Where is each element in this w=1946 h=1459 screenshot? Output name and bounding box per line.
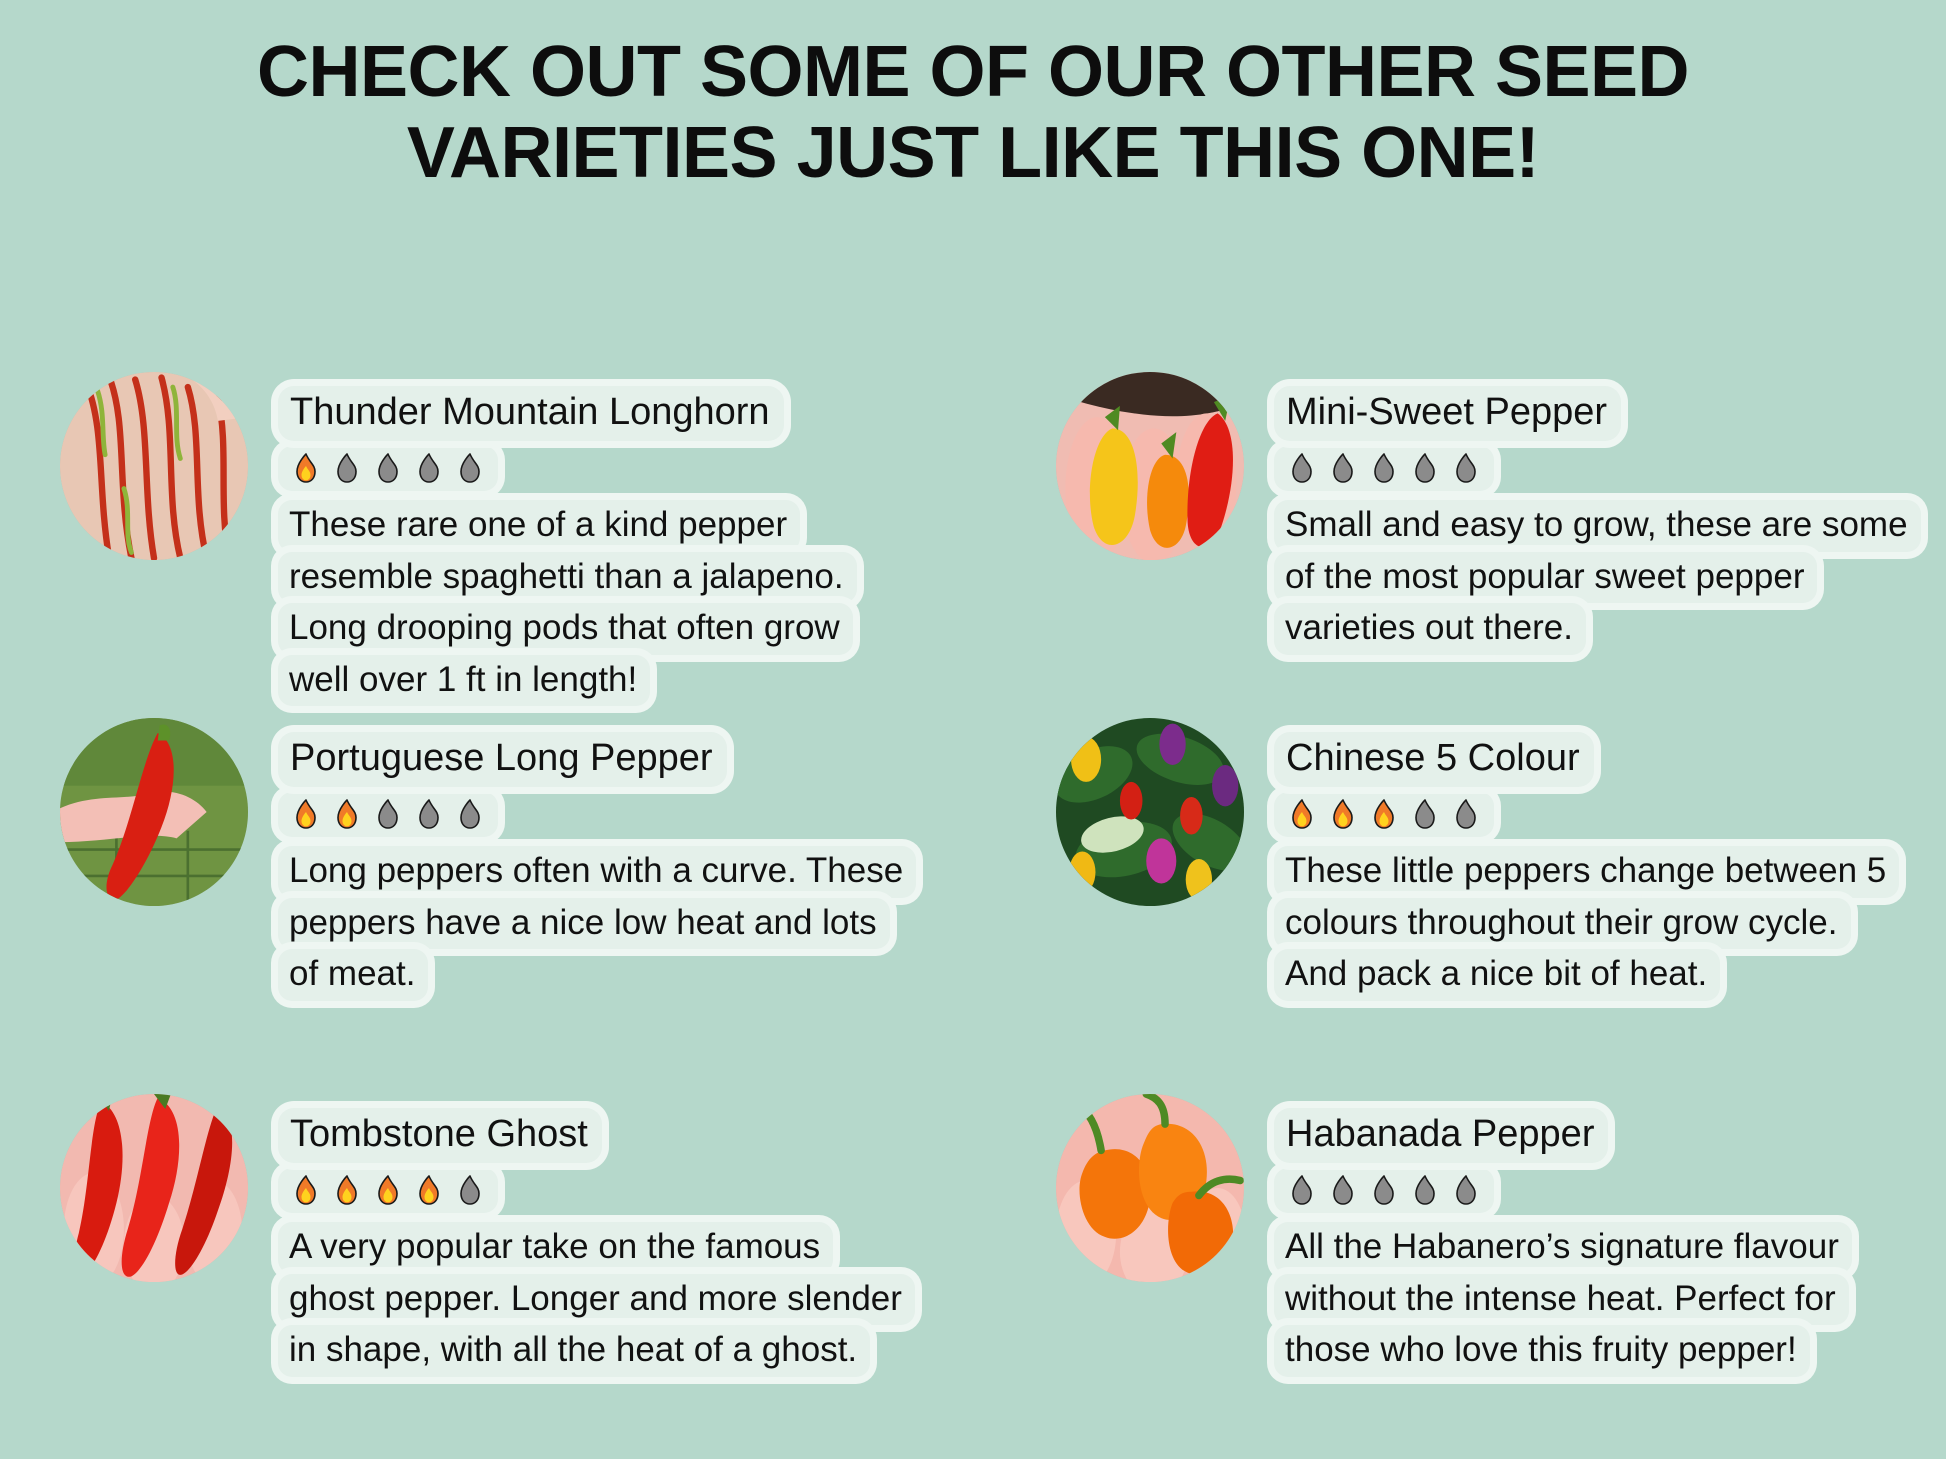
variety-description-line: resemble spaghetti than a jalapeno.	[278, 552, 857, 604]
flame-hot-icon	[409, 1171, 449, 1211]
variety-body: Habanada Pepper All the Habanero’s signa…	[1274, 1108, 1946, 1377]
variety-body: Tombstone Ghost A very popular take on t…	[278, 1108, 1008, 1377]
variety-description-line: A very popular take on the famous	[278, 1222, 833, 1274]
variety-description-line: peppers have a nice low heat and lots	[278, 898, 890, 950]
flame-hot-icon	[286, 449, 326, 489]
variety-name[interactable]: Mini-Sweet Pepper	[1274, 386, 1621, 441]
variety-name[interactable]: Habanada Pepper	[1274, 1108, 1608, 1163]
variety-card[interactable]: Chinese 5 Colour These little peppers ch…	[1056, 718, 1946, 1076]
flame-cold-icon	[1446, 1171, 1486, 1211]
flame-cold-icon	[368, 449, 408, 489]
flame-hot-icon	[368, 1171, 408, 1211]
variety-body: Chinese 5 Colour These little peppers ch…	[1274, 732, 1946, 1001]
flame-cold-icon	[1364, 449, 1404, 489]
variety-description-line: These little peppers change between 5	[1274, 846, 1899, 898]
variety-name[interactable]: Chinese 5 Colour	[1274, 732, 1594, 787]
page-title-line-1: CHECK OUT SOME OF OUR OTHER SEED	[123, 32, 1823, 113]
flame-hot-icon	[286, 795, 326, 835]
variety-description-line: varieties out there.	[1274, 603, 1586, 655]
heat-rating	[278, 1168, 498, 1213]
flame-cold-icon	[1405, 1171, 1445, 1211]
variety-body: Mini-Sweet Pepper Small and easy to grow…	[1274, 386, 1946, 655]
portuguese-long-pepper-photo[interactable]	[60, 718, 248, 906]
page-title-line-2: VARIETIES JUST LIKE THIS ONE!	[123, 113, 1823, 194]
mini-sweet-peppers-photo[interactable]	[1056, 372, 1244, 560]
flame-hot-icon	[1364, 795, 1404, 835]
tombstone-ghost-peppers-photo[interactable]	[60, 1094, 248, 1282]
flame-hot-icon	[327, 1171, 367, 1211]
variety-description-line: Long drooping pods that often grow	[278, 603, 853, 655]
chinese-five-colour-plant-photo[interactable]	[1056, 718, 1244, 906]
flame-hot-icon	[1282, 795, 1322, 835]
flame-cold-icon	[327, 449, 367, 489]
variety-description: These rare one of a kind pepperresemble …	[278, 500, 1008, 706]
heat-rating	[278, 792, 498, 837]
variety-card[interactable]: Thunder Mountain Longhorn These rare one…	[60, 372, 1010, 730]
heat-rating	[1274, 1168, 1494, 1213]
flame-hot-icon	[286, 1171, 326, 1211]
variety-body: Thunder Mountain Longhorn These rare one…	[278, 386, 1008, 706]
variety-description-line: These rare one of a kind pepper	[278, 500, 800, 552]
flame-cold-icon	[1405, 449, 1445, 489]
variety-description: Long peppers often with a curve. Thesepe…	[278, 846, 1008, 1001]
variety-description-line: Small and easy to grow, these are some	[1274, 500, 1921, 552]
variety-description-line: of the most popular sweet pepper	[1274, 552, 1817, 604]
variety-description: Small and easy to grow, these are someof…	[1274, 500, 1946, 655]
flame-cold-icon	[1323, 1171, 1363, 1211]
flame-cold-icon	[1282, 449, 1322, 489]
flame-cold-icon	[1446, 795, 1486, 835]
variety-description-line: well over 1 ft in length!	[278, 655, 650, 707]
flame-cold-icon	[1323, 449, 1363, 489]
flame-cold-icon	[1282, 1171, 1322, 1211]
variety-grid: Thunder Mountain Longhorn These rare one…	[0, 372, 1946, 1452]
flame-hot-icon	[327, 795, 367, 835]
variety-description-line: those who love this fruity pepper!	[1274, 1325, 1810, 1377]
variety-card[interactable]: Habanada Pepper All the Habanero’s signa…	[1056, 1094, 1946, 1452]
variety-card[interactable]: Tombstone Ghost A very popular take on t…	[60, 1094, 1010, 1452]
flame-cold-icon	[409, 449, 449, 489]
variety-name[interactable]: Portuguese Long Pepper	[278, 732, 727, 787]
variety-description-line: colours throughout their grow cycle.	[1274, 898, 1851, 950]
flame-cold-icon	[1405, 795, 1445, 835]
variety-body: Portuguese Long Pepper Long peppers ofte…	[278, 732, 1008, 1001]
page-title: CHECK OUT SOME OF OUR OTHER SEED VARIETI…	[123, 0, 1823, 193]
heat-rating	[278, 446, 498, 491]
flame-cold-icon	[450, 1171, 490, 1211]
variety-description: These little peppers change between 5col…	[1274, 846, 1946, 1001]
flame-cold-icon	[1446, 449, 1486, 489]
variety-card[interactable]: Portuguese Long Pepper Long peppers ofte…	[60, 718, 1010, 1076]
variety-description-line: without the intense heat. Perfect for	[1274, 1274, 1849, 1326]
variety-description-line: And pack a nice bit of heat.	[1274, 949, 1720, 1001]
variety-description-line: Long peppers often with a curve. These	[278, 846, 916, 898]
flame-cold-icon	[1364, 1171, 1404, 1211]
heat-rating	[1274, 446, 1494, 491]
flame-cold-icon	[409, 795, 449, 835]
variety-name[interactable]: Tombstone Ghost	[278, 1108, 602, 1163]
flame-cold-icon	[368, 795, 408, 835]
variety-card[interactable]: Mini-Sweet Pepper Small and easy to grow…	[1056, 372, 1946, 730]
flame-hot-icon	[1323, 795, 1363, 835]
variety-description-line: of meat.	[278, 949, 428, 1001]
flame-cold-icon	[450, 795, 490, 835]
variety-name[interactable]: Thunder Mountain Longhorn	[278, 386, 784, 441]
habanada-peppers-photo[interactable]	[1056, 1094, 1244, 1282]
flame-cold-icon	[450, 449, 490, 489]
variety-description-line: All the Habanero’s signature flavour	[1274, 1222, 1852, 1274]
heat-rating	[1274, 792, 1494, 837]
variety-description: All the Habanero’s signature flavourwith…	[1274, 1222, 1946, 1377]
red-longhorn-peppers-photo[interactable]	[60, 372, 248, 560]
variety-description-line: ghost pepper. Longer and more slender	[278, 1274, 915, 1326]
variety-description: A very popular take on the famousghost p…	[278, 1222, 1008, 1377]
variety-description-line: in shape, with all the heat of a ghost.	[278, 1325, 870, 1377]
